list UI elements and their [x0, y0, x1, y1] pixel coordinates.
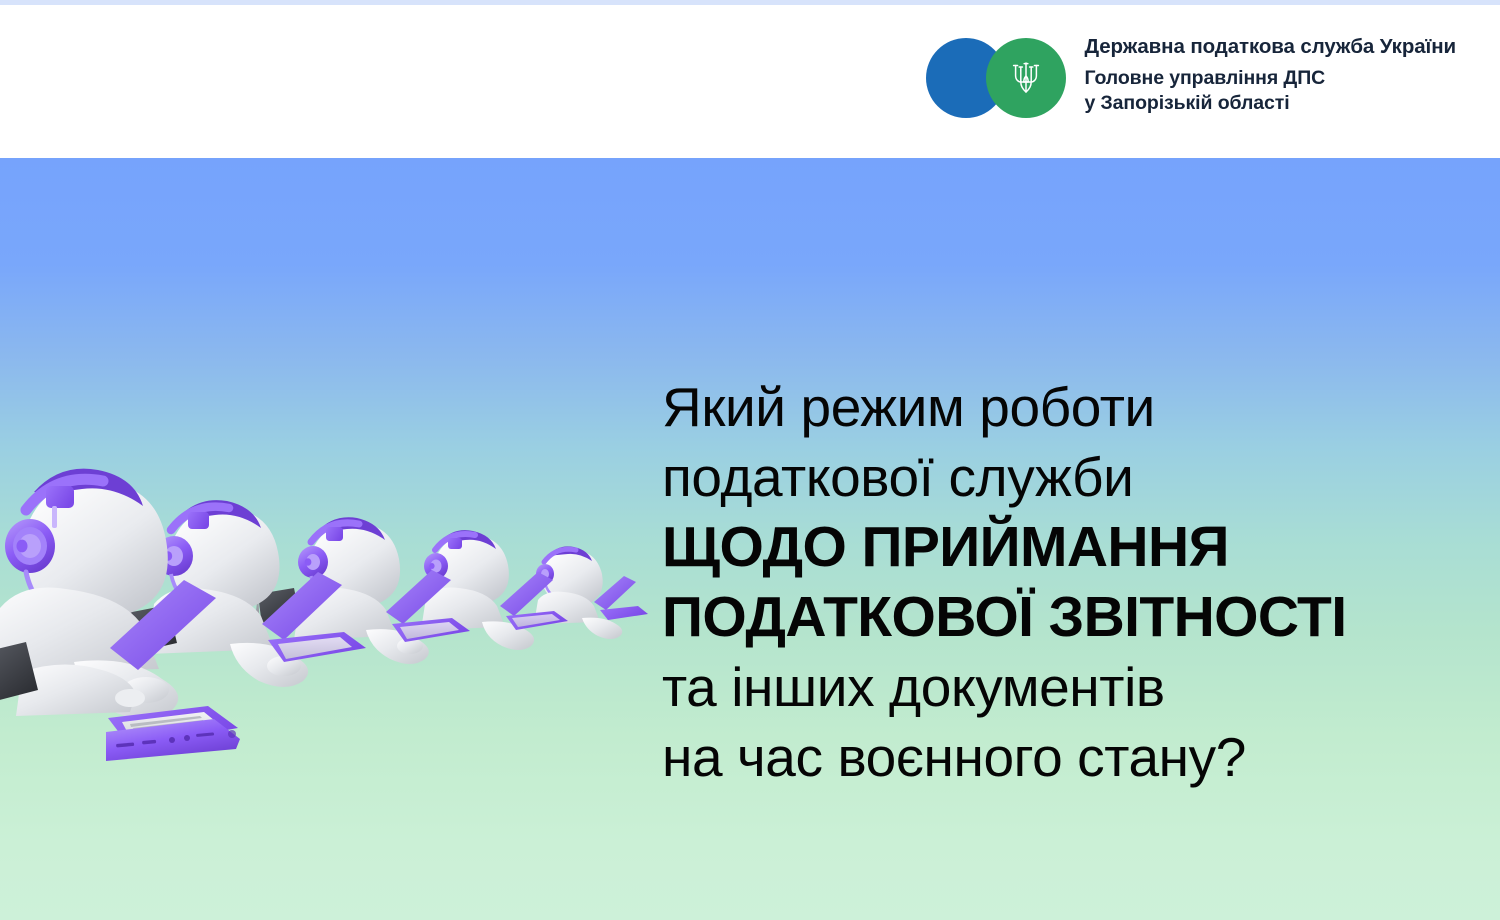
- organization-line-3: у Запорізькій області: [1084, 91, 1456, 116]
- logo-marks: [926, 38, 1058, 118]
- ukraine-trident-icon: [1011, 58, 1041, 98]
- headline-line-5: та інших документів: [662, 652, 1462, 722]
- headline-line-6: на час воєнного стану?: [662, 722, 1462, 792]
- organization-logo-block: Державна податкова служба України Головн…: [926, 34, 1456, 118]
- poster-root: Державна податкова служба України Головн…: [0, 0, 1500, 920]
- headline-line-2: податкової служби: [662, 442, 1462, 512]
- headline-line-1: Який режим роботи: [662, 372, 1462, 442]
- call-center-operators-illustration: [0, 422, 662, 842]
- organization-line-2: Головне управління ДПС: [1084, 66, 1456, 91]
- headline-block: Який режим роботи податкової служби ЩОДО…: [662, 372, 1462, 792]
- green-circle-icon: [986, 38, 1066, 118]
- headline-line-3: ЩОДО ПРИЙМАННЯ: [662, 512, 1462, 582]
- organization-line-1: Державна податкова служба України: [1084, 34, 1456, 60]
- header-band: Державна податкова служба України Головн…: [0, 5, 1500, 158]
- headline-line-4: ПОДАТКОВОЇ ЗВІТНОСТІ: [662, 582, 1462, 652]
- organization-name: Державна податкова служба України Головн…: [1084, 34, 1456, 116]
- gradient-stage: Який режим роботи податкової служби ЩОДО…: [0, 158, 1500, 920]
